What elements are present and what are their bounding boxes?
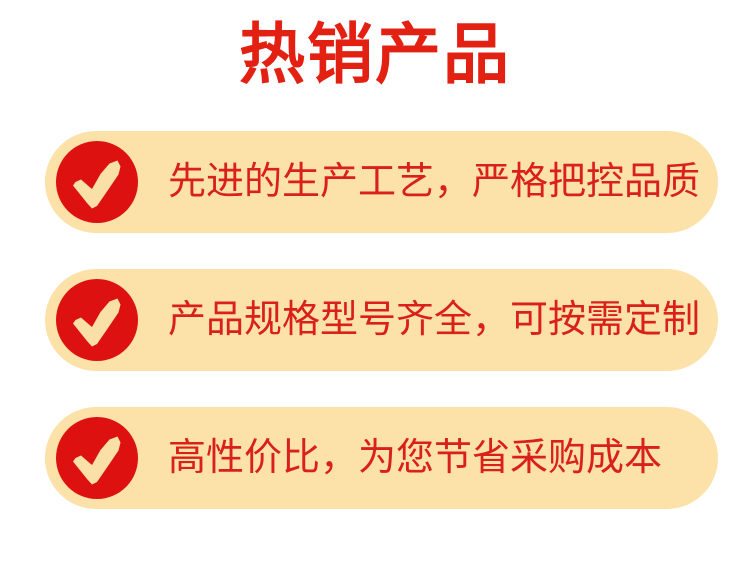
check-mark-icon [56,279,138,361]
feature-text: 先进的生产工艺，严格把控品质 [168,131,700,233]
list-item: 产品规格型号齐全，可按需定制 [45,269,718,371]
check-mark-icon [56,141,138,223]
list-item: 先进的生产工艺，严格把控品质 [45,131,718,233]
feature-text: 产品规格型号齐全，可按需定制 [168,269,700,371]
list-item: 高性价比，为您节省采购成本 [45,407,718,509]
feature-list: 先进的生产工艺，严格把控品质 产品规格型号齐全，可按需定制 高性价比，为您节省采… [45,131,718,509]
feature-text: 高性价比，为您节省采购成本 [168,407,662,509]
hot-products-banner: 热销产品 先进的生产工艺，严格把控品质 产品规格型号齐全，可按需定制 [0,0,750,564]
check-mark-icon [56,417,138,499]
page-title: 热销产品 [0,14,750,94]
